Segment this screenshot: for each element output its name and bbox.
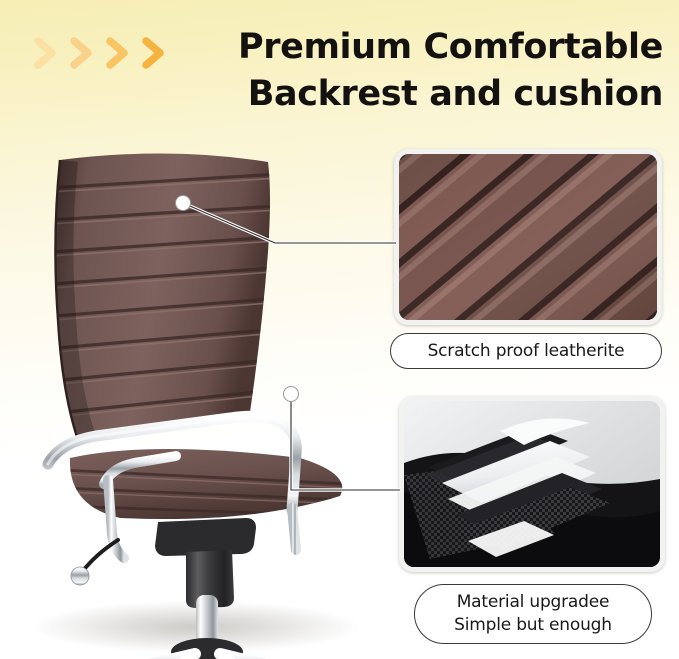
chevron-right-icon-1 (30, 36, 64, 70)
material-layers-photo (399, 396, 665, 572)
headline-line-1: Premium Comfortable (185, 24, 663, 71)
badge-material-line-1: Material upgradee (457, 591, 610, 614)
chevron-right-icon-3 (102, 36, 136, 70)
header-banner: Premium Comfortable Backrest and cushion (0, 0, 679, 140)
material-layers-image (404, 401, 660, 567)
product-infographic: Premium Comfortable Backrest and cushion (0, 0, 679, 659)
leather-texture-photo (394, 149, 662, 325)
badge-material-line-2: Simple but enough (454, 614, 612, 637)
chevron-right-icon-2 (66, 36, 100, 70)
badge-material-upgrade: Material upgradee Simple but enough (414, 584, 652, 644)
badge-scratch-proof: Scratch proof leatherite (390, 333, 662, 369)
badge-scratch-proof-label: Scratch proof leatherite (428, 341, 625, 361)
headline-line-2: Backrest and cushion (185, 71, 663, 118)
chevron-right-icon-4 (138, 36, 172, 70)
chevron-arrow-group (30, 36, 176, 70)
office-chair-image (0, 140, 400, 659)
chair-mechanism (155, 518, 256, 556)
headline: Premium Comfortable Backrest and cushion (185, 24, 663, 118)
chair-backrest (55, 153, 270, 440)
tilt-lever (82, 540, 118, 572)
leather-texture-image (399, 154, 657, 320)
